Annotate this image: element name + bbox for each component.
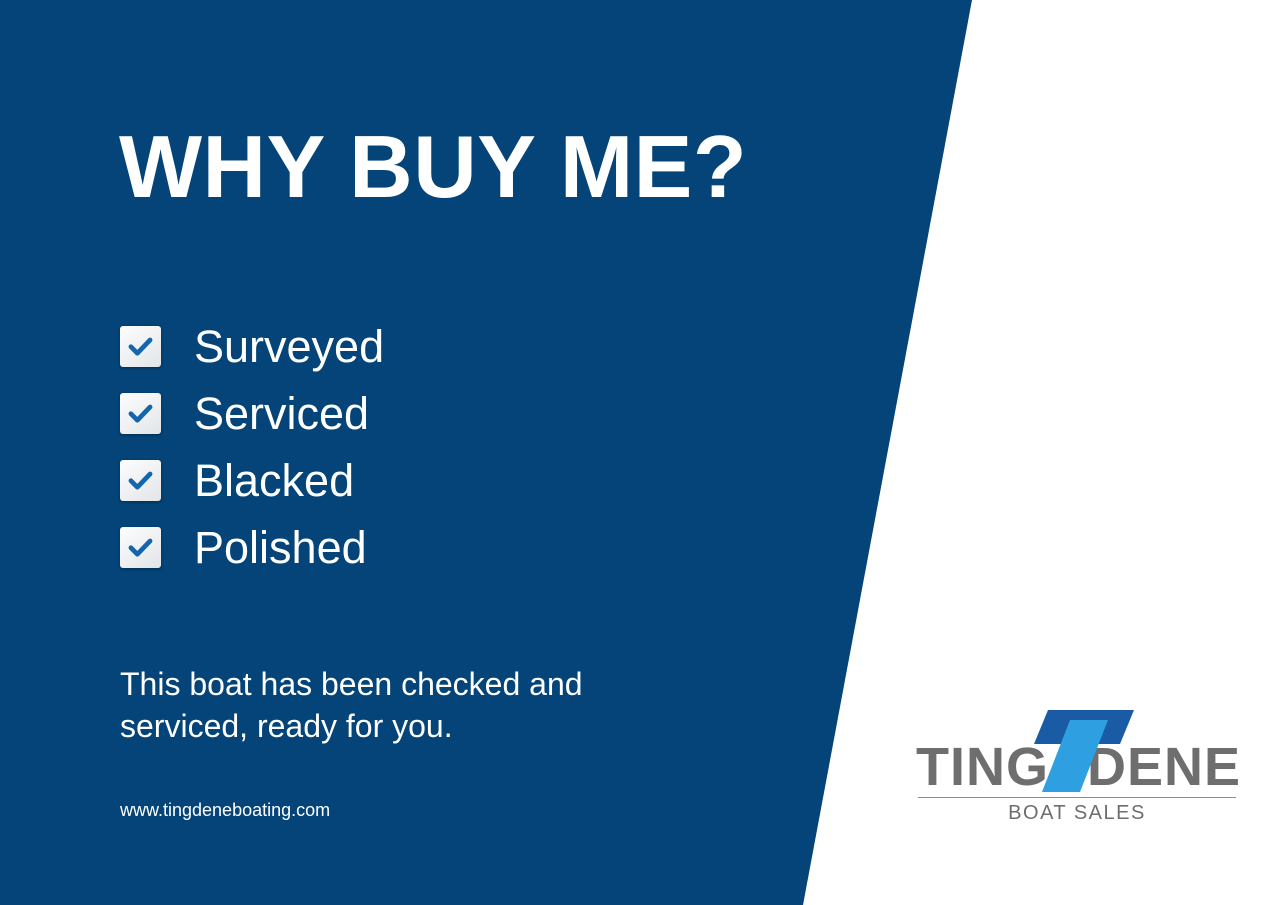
tingdene-boat-sales-logo[interactable]: TING DENE BOAT SALES	[916, 706, 1238, 824]
checkmark-icon	[127, 534, 154, 561]
tingdene-t-mark-icon	[1022, 706, 1142, 796]
page-title: WHY BUY ME?	[119, 123, 747, 211]
list-item: Serviced	[120, 380, 384, 447]
logo-tagline: BOAT SALES	[916, 802, 1238, 824]
marketing-slide: WHY BUY ME? Surveyed Serviced	[0, 0, 1280, 905]
feature-checklist: Surveyed Serviced Blacked	[120, 313, 384, 581]
checklist-label-blacked: Blacked	[194, 458, 354, 503]
checklist-label-surveyed: Surveyed	[194, 324, 384, 369]
checklist-label-serviced: Serviced	[194, 391, 369, 436]
checkbox-polished[interactable]	[120, 527, 161, 568]
checklist-label-polished: Polished	[194, 525, 367, 570]
slide-content: WHY BUY ME? Surveyed Serviced	[0, 0, 1000, 905]
checkbox-surveyed[interactable]	[120, 326, 161, 367]
checkbox-blacked[interactable]	[120, 460, 161, 501]
checkbox-serviced[interactable]	[120, 393, 161, 434]
list-item: Polished	[120, 514, 384, 581]
logo-divider	[918, 797, 1236, 798]
checkmark-icon	[127, 467, 154, 494]
list-item: Blacked	[120, 447, 384, 514]
checkmark-icon	[127, 400, 154, 427]
website-url[interactable]: www.tingdeneboating.com	[120, 801, 330, 819]
list-item: Surveyed	[120, 313, 384, 380]
body-copy: This boat has been checked and serviced,…	[120, 663, 640, 747]
checkmark-icon	[127, 333, 154, 360]
